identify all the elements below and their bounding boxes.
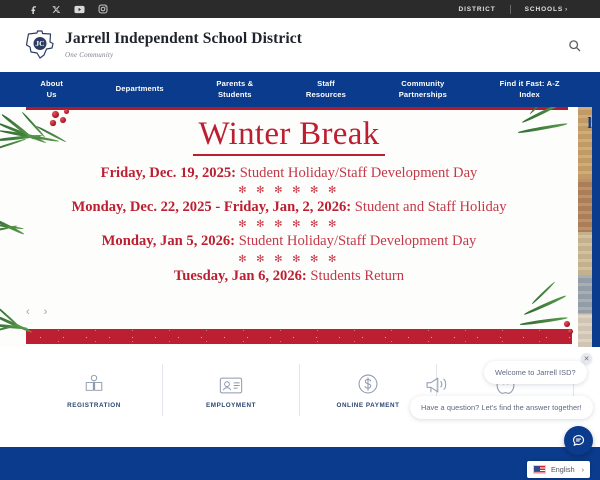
event-date-3: Monday, Jan 5, 2026: — [102, 233, 235, 249]
peek-text-fragment: l — [588, 115, 592, 133]
quick-link-label: EMPLOYMENT — [206, 402, 256, 409]
nav-item-find-it-fast[interactable]: Find it Fast: A-Z Index — [497, 79, 563, 100]
site-title: Jarrell Independent School District — [65, 31, 302, 47]
event-date-2: Monday, Dec. 22, 2025 - Friday, Jan, 2, … — [71, 199, 351, 215]
instagram-icon[interactable] — [97, 4, 108, 15]
hero-carousel: l — [0, 107, 600, 347]
district-logo[interactable]: JC — [22, 30, 56, 60]
nav-item-about-us[interactable]: About Us — [37, 79, 66, 100]
language-label: English — [551, 465, 575, 474]
registration-icon — [83, 371, 105, 395]
slide-edge-accent — [592, 107, 600, 347]
snowflake-divider-1: ✻ ✻ ✻ ✻ ✻ ✻ — [0, 183, 578, 199]
chat-bubble-question[interactable]: Have a question? Let's find the answer t… — [410, 396, 593, 419]
nav-label-line2: Us — [40, 90, 63, 100]
main-navigation: About Us Departments Parents & Students … — [0, 72, 600, 107]
chat-close-icon[interactable]: ✕ — [581, 353, 592, 364]
nav-label-line1: Departments — [116, 84, 164, 94]
district-link[interactable]: DISTRICT — [444, 6, 509, 13]
event-line-4: Tuesday, Jan 6, 2026: Students Return — [0, 268, 578, 285]
online-payment-dollar-icon — [357, 371, 379, 395]
slide-bottom-band — [26, 329, 572, 344]
site-header: JC Jarrell Independent School District O… — [0, 18, 600, 72]
quick-link-label: ONLINE PAYMENT — [337, 402, 400, 409]
nav-label-line1: Staff — [306, 79, 346, 89]
event-line-1: Friday, Dec. 19, 2025: Student Holiday/S… — [0, 165, 578, 182]
nav-item-community-partnerships[interactable]: Community Partnerships — [396, 79, 450, 100]
svg-text:JC: JC — [35, 39, 44, 48]
chat-bubble-welcome[interactable]: Welcome to Jarrell ISD? — [484, 361, 587, 384]
snowflake-divider-2: ✻ ✻ ✻ ✻ ✻ ✻ — [0, 217, 578, 233]
quick-link-employment[interactable]: EMPLOYMENT — [163, 364, 300, 416]
carousel-controls: ‹ › — [26, 307, 47, 318]
nav-item-departments[interactable]: Departments — [113, 84, 167, 94]
x-twitter-icon[interactable] — [51, 4, 62, 15]
nav-item-staff-resources[interactable]: Staff Resources — [303, 79, 349, 100]
nav-label-line1: Find it Fast: A-Z — [500, 79, 560, 89]
footer-band — [0, 447, 600, 480]
schools-label: SCHOOLS — [525, 6, 563, 13]
event-text-3: Student Holiday/Staff Development Day — [235, 233, 476, 249]
nav-item-parents-students[interactable]: Parents & Students — [213, 79, 256, 100]
event-date-1: Friday, Dec. 19, 2025: — [101, 165, 236, 181]
nav-label-line2: Students — [216, 90, 253, 100]
social-links — [28, 4, 108, 15]
site-tagline: One Community — [65, 51, 302, 59]
schools-link[interactable]: SCHOOLS› — [511, 6, 582, 13]
slide-title: Winter Break — [193, 116, 386, 156]
carousel-prev-button[interactable]: ‹ — [26, 307, 30, 318]
chat-bubble-icon[interactable] — [564, 426, 593, 455]
facebook-icon[interactable] — [28, 4, 39, 15]
nav-label-line1: Parents & — [216, 79, 253, 89]
quick-link-label: REGISTRATION — [67, 402, 121, 409]
youtube-icon[interactable] — [74, 4, 85, 15]
brand-text: Jarrell Independent School District One … — [65, 31, 302, 58]
event-line-2: Monday, Dec. 22, 2025 - Friday, Jan, 2, … — [0, 199, 578, 216]
chevron-right-icon: › — [582, 465, 585, 474]
event-text-4: Students Return — [307, 268, 404, 284]
slide-content: Winter Break Friday, Dec. 19, 2025: Stud… — [0, 107, 578, 285]
us-flag-icon — [533, 465, 546, 474]
search-icon[interactable] — [564, 35, 584, 55]
chevron-right-icon: › — [565, 7, 568, 13]
event-text-2: Student and Staff Holiday — [351, 199, 506, 215]
nav-label-line2: Index — [500, 90, 560, 100]
quick-link-registration[interactable]: REGISTRATION — [26, 364, 163, 416]
top-right-links: DISTRICT SCHOOLS› — [444, 5, 590, 14]
quick-links-bar: REGISTRATION EMPLOYMENT ONLINE PAYMENT — [0, 347, 600, 432]
nav-label-line1: About — [40, 79, 63, 89]
nav-label-line2: Partnerships — [399, 90, 447, 100]
employment-id-card-icon — [219, 371, 243, 395]
event-text-1: Student Holiday/Staff Development Day — [236, 165, 477, 181]
carousel-slide-winter-break: Winter Break Friday, Dec. 19, 2025: Stud… — [0, 107, 578, 347]
language-selector[interactable]: English › — [527, 461, 590, 478]
event-date-4: Tuesday, Jan 6, 2026: — [174, 268, 307, 284]
carousel-next-button[interactable]: › — [44, 307, 48, 318]
nav-label-line1: Community — [399, 79, 447, 89]
nav-label-line2: Resources — [306, 90, 346, 100]
snowflake-divider-3: ✻ ✻ ✻ ✻ ✻ ✻ — [0, 252, 578, 268]
event-line-3: Monday, Jan 5, 2026: Student Holiday/Sta… — [0, 233, 578, 250]
top-utility-bar: DISTRICT SCHOOLS› — [0, 0, 600, 18]
